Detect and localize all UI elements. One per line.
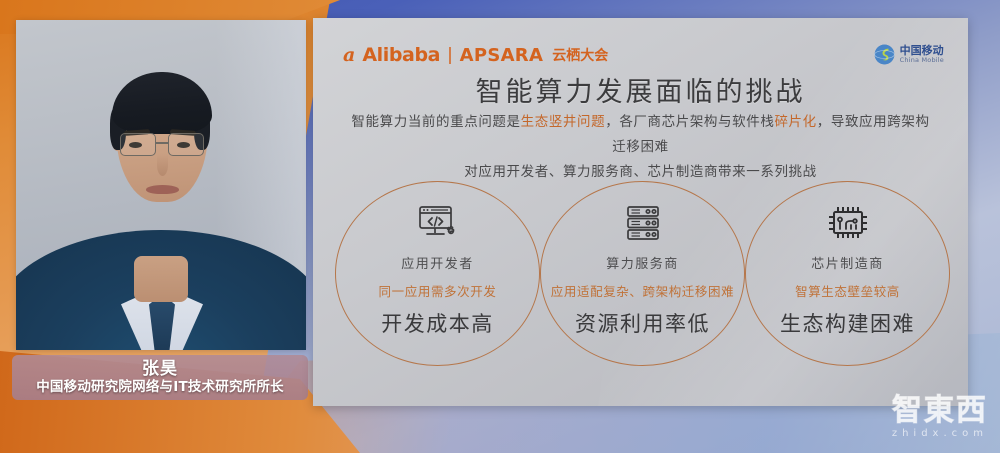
circle-role: 算力服务商	[606, 253, 679, 272]
subtitle-highlight-2: 碎片化	[774, 114, 816, 130]
microchip-icon	[825, 200, 871, 246]
watermark: 智東西 zhidx.com	[892, 395, 988, 439]
slide-title: 智能算力发展面临的挑战	[313, 70, 968, 109]
speaker-video-panel	[16, 20, 306, 350]
circle-role: 芯片制造商	[811, 253, 884, 272]
apsara-wordmark: APSARA	[460, 47, 544, 65]
server-rack-icon	[623, 200, 663, 246]
speaker-title: 中国移动研究院网络与IT技术研究所所长	[36, 379, 284, 395]
monitor-code-gear-icon	[416, 200, 460, 246]
circle-pain: 智算生态壁垒较高	[795, 281, 900, 300]
speaker-nose	[157, 154, 168, 176]
subtitle-line1-part2: ，各厂商芯片架构与软件栈	[605, 114, 774, 130]
speaker-nameplate: 张昊 中国移动研究院网络与IT技术研究所所长	[12, 355, 308, 400]
circle-pain: 同一应用需多次开发	[379, 281, 497, 300]
speaker-mouth	[146, 185, 179, 194]
alibaba-wordmark: Alibaba	[362, 46, 440, 65]
subtitle-line1-part1: 智能算力当前的重点问题是	[351, 114, 520, 130]
challenge-circle-developer: 应用开发者 同一应用需多次开发 开发成本高	[335, 181, 540, 366]
china-mobile-orb-icon	[874, 44, 895, 65]
challenge-circle-chip-maker: 芯片制造商 智算生态壁垒较高 生态构建困难	[745, 181, 950, 366]
glasses-lens-left	[120, 133, 156, 156]
circle-result: 生态构建困难	[780, 308, 915, 338]
speaker-name: 张昊	[142, 360, 178, 379]
presentation-slide: a Alibaba APSARA 云栖大会 中国移动 China Mobile …	[313, 18, 968, 406]
china-mobile-logo: 中国移动 China Mobile	[874, 44, 944, 65]
subtitle-line2: 对应用开发者、算力服务商、芯片制造商带来一系列挑战	[464, 164, 817, 180]
logo-divider	[449, 47, 451, 64]
challenge-circles: 应用开发者 同一应用需多次开发 开发成本高	[335, 181, 950, 366]
circle-pain: 应用适配复杂、跨架构迁移困难	[551, 281, 734, 300]
circle-result: 开发成本高	[381, 308, 494, 338]
circle-result: 资源利用率低	[575, 308, 710, 338]
alibaba-mark-icon: a	[343, 46, 355, 65]
china-mobile-text: 中国移动 China Mobile	[900, 45, 944, 63]
speaker-neck	[134, 256, 188, 302]
glasses-lens-right	[168, 133, 204, 156]
glasses-bridge	[156, 142, 168, 144]
challenge-circle-compute-provider: 算力服务商 应用适配复杂、跨架构迁移困难 资源利用率低	[540, 181, 745, 366]
alibaba-apsara-logo: a Alibaba APSARA 云栖大会	[343, 46, 608, 65]
circle-role: 应用开发者	[401, 253, 474, 272]
china-mobile-en: China Mobile	[900, 57, 944, 64]
watermark-url: zhidx.com	[892, 428, 988, 439]
screen-stage: 张昊 中国移动研究院网络与IT技术研究所所长 a Alibaba APSARA …	[0, 0, 1000, 453]
watermark-logo: 智東西	[892, 395, 988, 427]
subtitle-highlight-1: 生态竖井问题	[521, 114, 606, 130]
slide-subtitle: 智能算力当前的重点问题是生态竖井问题，各厂商芯片架构与软件栈碎片化，导致应用跨架…	[349, 110, 932, 185]
apsara-chinese-name: 云栖大会	[552, 49, 608, 63]
